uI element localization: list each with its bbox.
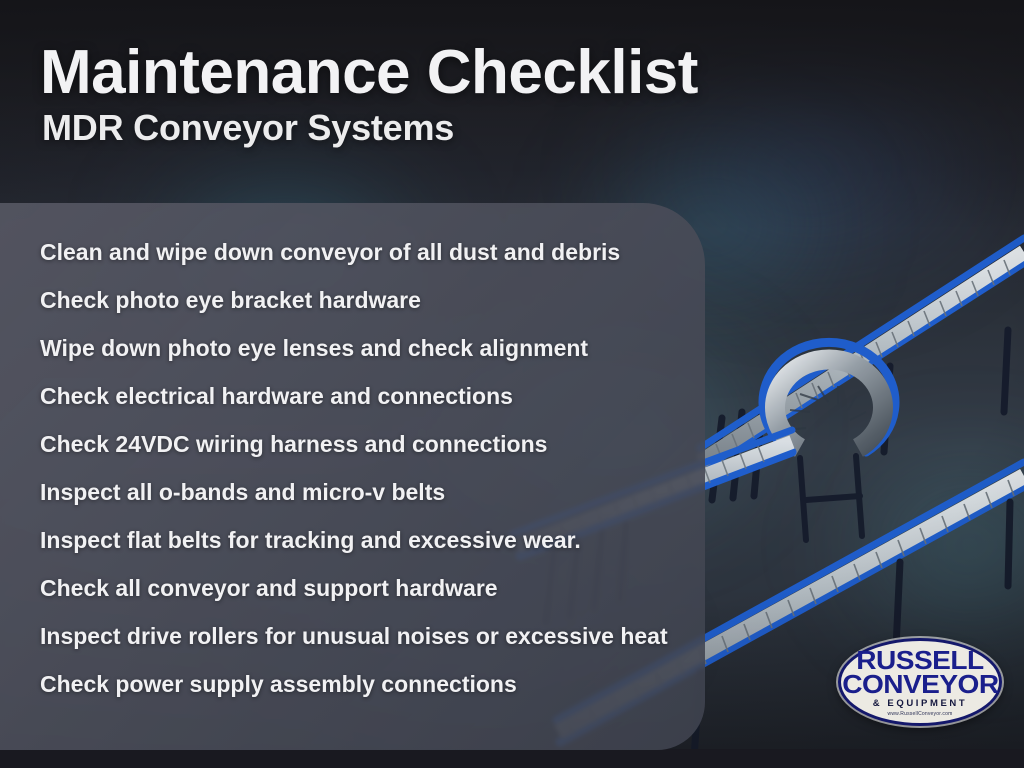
- list-item: Check photo eye bracket hardware: [40, 276, 675, 324]
- list-item: Wipe down photo eye lenses and check ali…: [40, 324, 675, 372]
- logo-line-conveyor: CONVEYOR: [842, 673, 998, 697]
- logo-website-url: www.RussellConveyor.com: [888, 711, 953, 717]
- list-item: Check power supply assembly connections: [40, 660, 675, 708]
- list-item: Inspect all o-bands and micro-v belts: [40, 468, 675, 516]
- list-item: Check electrical hardware and connection…: [40, 372, 675, 420]
- list-item: Inspect flat belts for tracking and exce…: [40, 516, 675, 564]
- checklist-panel: Clean and wipe down conveyor of all dust…: [0, 203, 705, 750]
- page-subtitle: MDR Conveyor Systems: [42, 110, 698, 146]
- bottom-band: [0, 749, 1024, 768]
- list-item: Check 24VDC wiring harness and connectio…: [40, 420, 675, 468]
- company-logo: RUSSELL CONVEYOR & EQUIPMENT www.Russell…: [838, 638, 1002, 726]
- header: Maintenance Checklist MDR Conveyor Syste…: [40, 42, 698, 146]
- list-item: Clean and wipe down conveyor of all dust…: [40, 228, 675, 276]
- list-item: Inspect drive rollers for unusual noises…: [40, 612, 675, 660]
- slide-canvas: Maintenance Checklist MDR Conveyor Syste…: [0, 0, 1024, 768]
- list-item: Check all conveyor and support hardware: [40, 564, 675, 612]
- logo-text-group: RUSSELL CONVEYOR & EQUIPMENT www.Russell…: [838, 638, 1002, 726]
- page-title: Maintenance Checklist: [40, 42, 698, 104]
- logo-line-equipment: & EQUIPMENT: [873, 698, 968, 709]
- checklist: Clean and wipe down conveyor of all dust…: [40, 228, 675, 708]
